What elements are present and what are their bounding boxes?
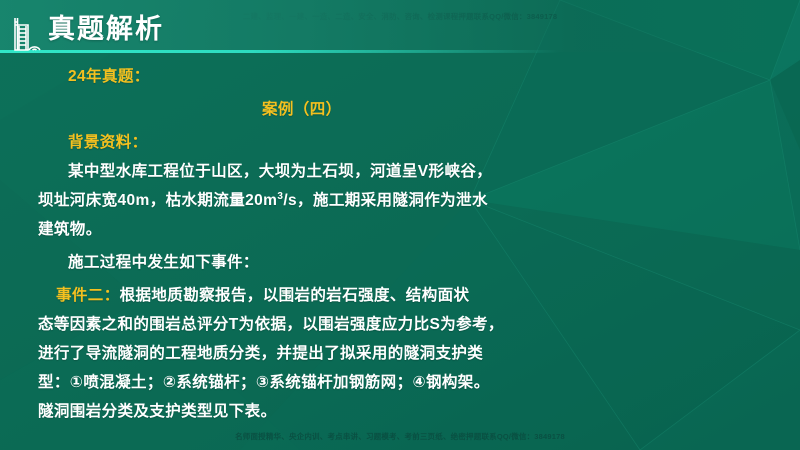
building-tower-icon xyxy=(6,12,42,52)
slide-content: 24年真题： 案例（四） 背景资料： 某中型水库工程位于山区，大坝为土石坝，河道… xyxy=(38,62,638,426)
background-line-2: 坝址河床宽40m，枯水期流量20m3/s，施工期采用隧洞作为泄水 xyxy=(38,186,638,215)
presentation-slide: 二建、监理、一建、一造、二造、安全、消防、咨询、检测课程押题联系QQ/微信：38… xyxy=(0,0,800,450)
background-line-1: 某中型水库工程位于山区，大坝为土石坝，河道呈V形峡谷， xyxy=(38,157,638,186)
event-line-1-text: 根据地质勘察报告，以围岩的岩石强度、结构面状 xyxy=(120,287,470,304)
page-title: 真题解析 xyxy=(48,13,164,45)
background-label: 背景资料： xyxy=(38,128,638,157)
event-line-1: 事件二：根据地质勘察报告，以围岩的岩石强度、结构面状 xyxy=(38,281,638,310)
case-title: 案例（四） xyxy=(38,95,638,124)
event-line-4: 型：①喷混凝土；②系统锚杆；③系统锚杆加钢筋网；④钢构架。 xyxy=(38,368,638,397)
watermark-bottom: 名师面授精华、央企内训、考点串讲、习题模考、考前三页纸、绝密押题联系QQ/微信：… xyxy=(0,431,800,442)
event-line-5: 隧洞围岩分类及支护类型见下表。 xyxy=(38,397,638,426)
process-intro-line: 施工过程中发生如下事件： xyxy=(38,248,638,277)
background-line-3: 建筑物。 xyxy=(38,215,638,244)
event-label: 事件二： xyxy=(56,287,120,304)
header-underline-rule xyxy=(0,50,560,53)
exam-year-label: 24年真题： xyxy=(38,62,638,91)
event-line-2: 态等因素之和的围岩总评分T为依据，以围岩强度应力比S为参考， xyxy=(38,310,638,339)
event-line-3: 进行了导流隧洞的工程地质分类，并提出了拟采用的隧洞支护类 xyxy=(38,339,638,368)
